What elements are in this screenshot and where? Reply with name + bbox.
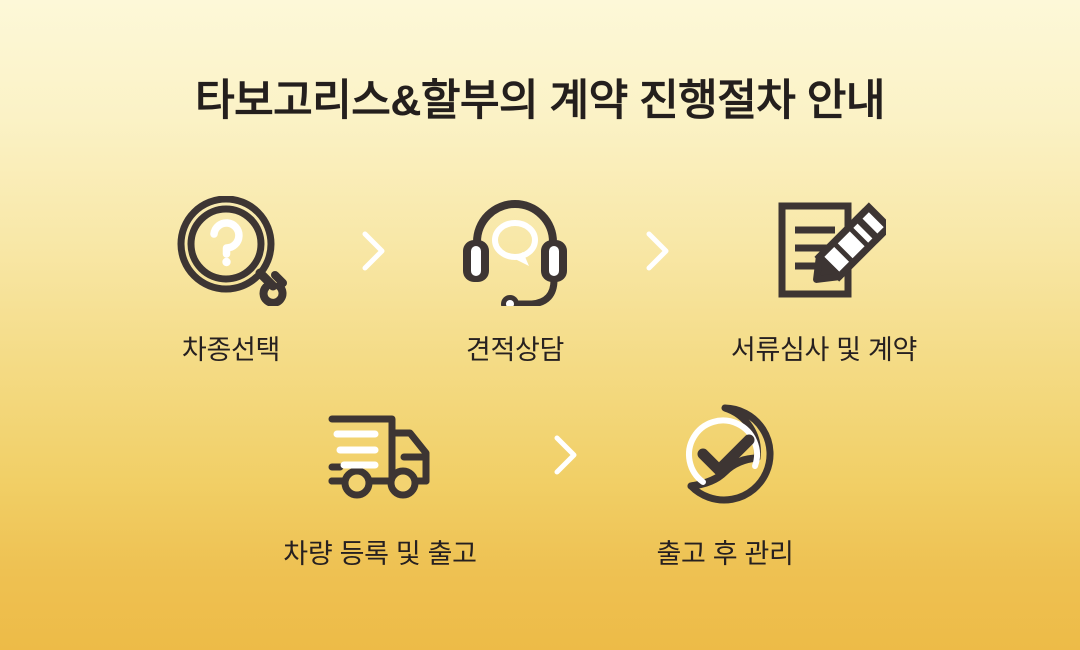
magnifier-question-icon bbox=[169, 196, 293, 306]
step-2-quote-consultation[interactable]: 견적상담 bbox=[425, 196, 605, 367]
chevron-right-icon bbox=[505, 400, 625, 510]
process-banner: 타보고리스&할부의 계약 진행절차 안내 차종 bbox=[0, 0, 1080, 650]
headset-chat-icon bbox=[453, 196, 577, 306]
document-pencil-icon bbox=[762, 196, 886, 306]
chevron-right-icon bbox=[321, 196, 425, 306]
step-1-label: 차종선택 bbox=[182, 328, 280, 367]
step-3-label: 서류심사 및 계약 bbox=[731, 328, 917, 367]
process-row-2: 차량 등록 및 출고 출고 후 관리 bbox=[0, 400, 1080, 571]
step-3-document-review-contract[interactable]: 서류심사 및 계약 bbox=[709, 196, 939, 367]
page-title: 타보고리스&할부의 계약 진행절차 안내 bbox=[0, 66, 1080, 128]
chevron-right-icon bbox=[605, 196, 709, 306]
delivery-truck-icon bbox=[318, 400, 442, 510]
step-4-label: 차량 등록 및 출고 bbox=[283, 532, 476, 571]
step-1-vehicle-selection[interactable]: 차종선택 bbox=[141, 196, 321, 367]
step-2-label: 견적상담 bbox=[466, 328, 564, 367]
step-4-registration-delivery[interactable]: 차량 등록 및 출고 bbox=[255, 400, 505, 571]
check-sticker-icon bbox=[663, 400, 787, 510]
process-row-1: 차종선택 bbox=[0, 196, 1080, 367]
step-5-label: 출고 후 관리 bbox=[656, 532, 793, 571]
step-5-after-delivery-care[interactable]: 출고 후 관리 bbox=[625, 400, 825, 571]
